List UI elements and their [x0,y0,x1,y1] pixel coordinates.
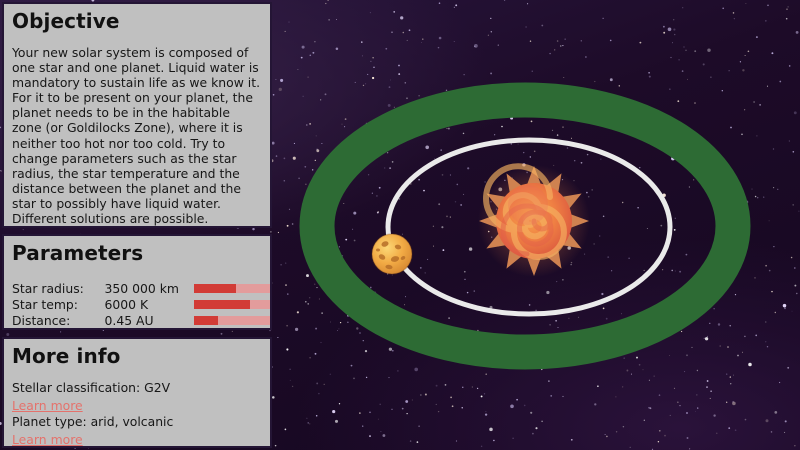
star-radius-slider-fill [194,284,236,293]
star-temp-slider[interactable] [194,300,270,309]
table-row: Distance: 0.45 AU [12,313,270,329]
planet-learn-more-link[interactable]: Learn more [12,432,83,447]
distance-slider[interactable] [194,316,270,325]
stellar-learn-more-link[interactable]: Learn more [12,398,83,413]
stellar-classification-text: Stellar classification: G2V [12,380,270,395]
parameters-table: Star radius: 350 000 km Star temp: 6000 … [12,281,270,329]
parameters-title: Parameters [12,241,270,265]
more-info-title: More info [12,344,270,368]
star[interactable] [478,165,590,277]
star-radius-slider-cell [194,281,270,297]
star-highlight [508,185,548,225]
star-temp-slider-cell [194,297,270,313]
star-radius-label: Star radius: [12,281,105,297]
objective-text: Your new solar system is composed of one… [12,45,262,226]
distance-value: 0.45 AU [105,313,194,329]
star-radius-slider[interactable] [194,284,270,293]
star-temp-slider-fill [194,300,250,309]
objective-panel: Objective Your new solar system is compo… [2,2,272,228]
star-radius-value: 350 000 km [105,281,194,297]
distance-slider-cell [194,313,270,329]
distance-label: Distance: [12,313,105,329]
objective-title: Objective [12,9,270,33]
planet[interactable] [369,231,417,279]
table-row: Star radius: 350 000 km [12,281,270,297]
table-row: Star temp: 6000 K [12,297,270,313]
star-temp-label: Star temp: [12,297,105,313]
parameters-panel: Parameters Star radius: 350 000 km Star … [2,234,272,330]
star-temp-value: 6000 K [105,297,194,313]
more-info-spacer [4,368,270,380]
distance-slider-fill [194,316,218,325]
planet-type-text: Planet type: arid, volcanic [12,414,270,429]
more-info-panel: More info Stellar classification: G2V Le… [2,337,272,448]
solar-system-simulator: Objective Your new solar system is compo… [0,0,800,450]
